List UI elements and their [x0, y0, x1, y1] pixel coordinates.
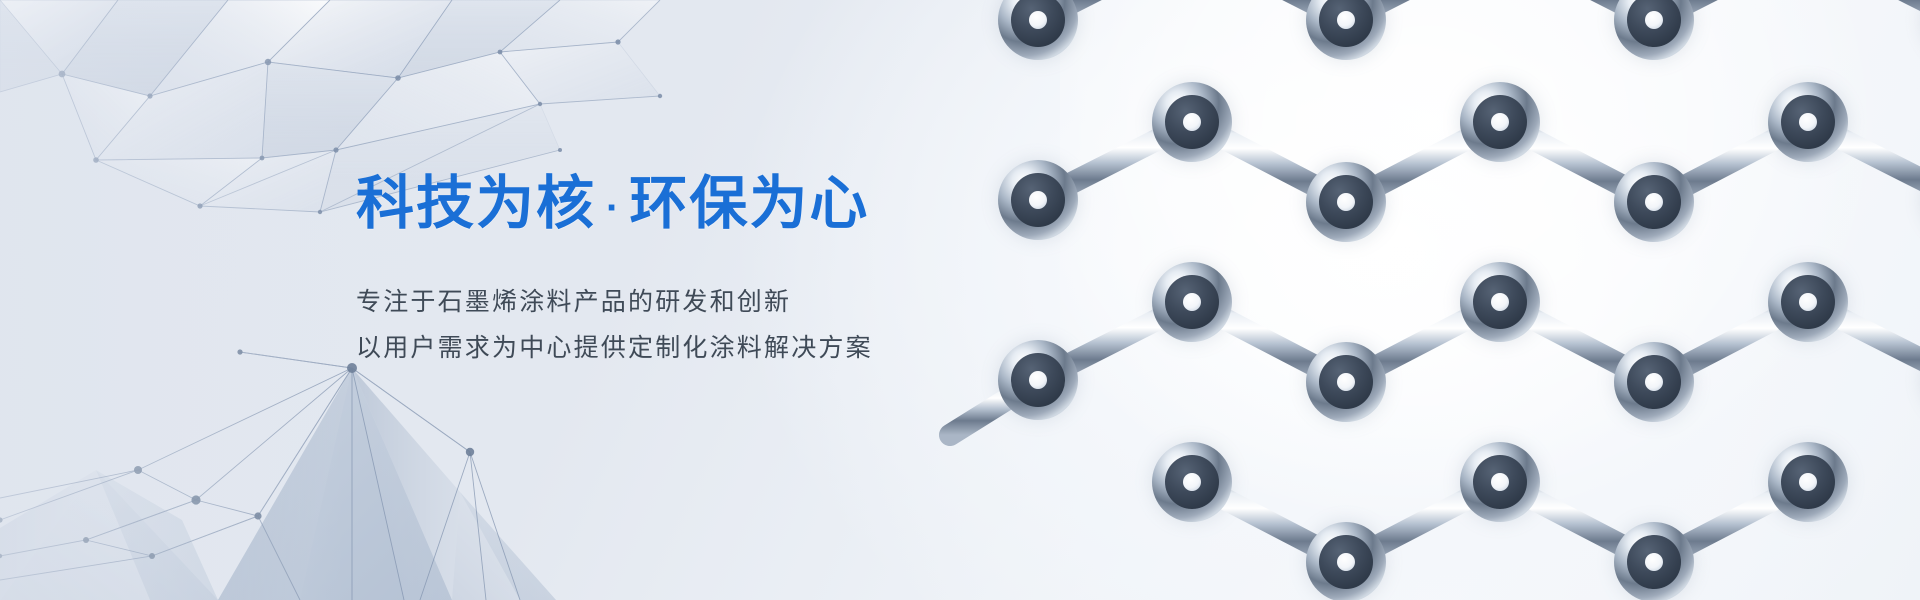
hero-copy: 科技为核·环保为心 专注于石墨烯涂料产品的研发和创新 以用户需求为中心提供定制化…: [356, 175, 1116, 372]
hero-banner: 科技为核·环保为心 专注于石墨烯涂料产品的研发和创新 以用户需求为中心提供定制化…: [0, 0, 1920, 600]
headline-part-1: 科技为核: [356, 171, 596, 236]
headline-separator-dot: ·: [596, 186, 629, 230]
hero-headline: 科技为核·环保为心: [356, 175, 1116, 233]
hero-subtitle-line-2: 以用户需求为中心提供定制化涂料解决方案: [356, 325, 1116, 371]
headline-part-2: 环保为心: [629, 171, 869, 236]
hero-subtitle-line-1: 专注于石墨烯涂料产品的研发和创新: [356, 279, 1116, 325]
